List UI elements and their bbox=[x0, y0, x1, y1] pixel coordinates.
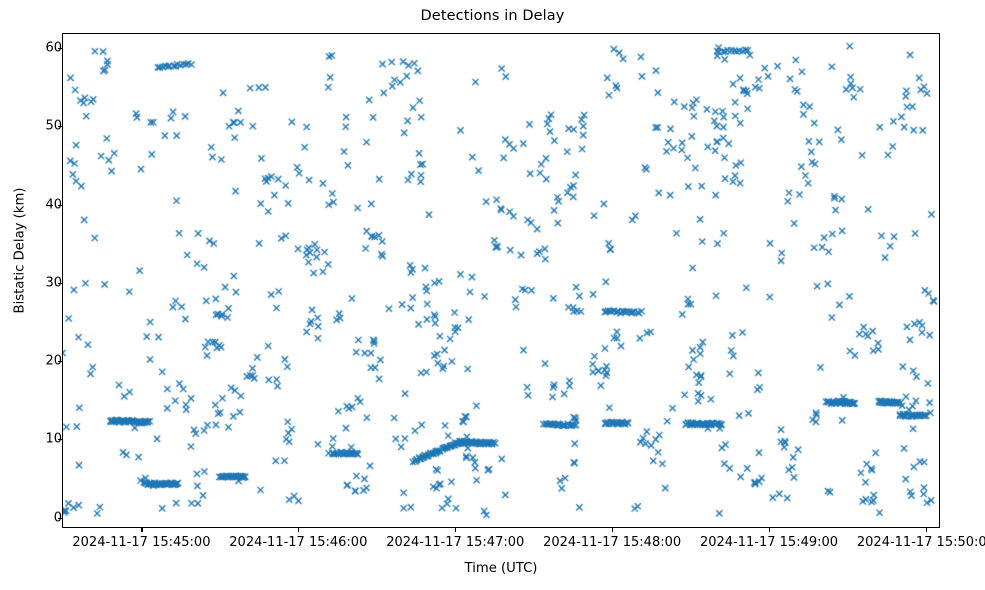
x-tick-mark bbox=[612, 528, 613, 532]
y-tick-label: 30 bbox=[18, 275, 62, 290]
x-tick-mark bbox=[141, 528, 142, 532]
x-tick-mark bbox=[769, 528, 770, 532]
x-tick-label: 2024-11-17 15:50:00 bbox=[826, 535, 985, 550]
matplotlib-figure: Detections in Delay Bistatic Delay (km) … bbox=[0, 0, 985, 590]
plot-area bbox=[62, 33, 940, 528]
y-tick-label: 20 bbox=[18, 354, 62, 369]
scatter-points-layer bbox=[63, 34, 939, 527]
y-tick-label: 50 bbox=[18, 119, 62, 134]
y-axis-tick-labels: 0102030405060 bbox=[0, 33, 62, 528]
x-tick-mark bbox=[298, 528, 299, 532]
x-tick-mark bbox=[926, 528, 927, 532]
y-tick-label: 60 bbox=[18, 41, 62, 56]
y-tick-label: 40 bbox=[18, 197, 62, 212]
x-tick-mark bbox=[455, 528, 456, 532]
x-axis-label: Time (UTC) bbox=[62, 561, 940, 576]
y-tick-label: 0 bbox=[18, 510, 62, 525]
page-title: Detections in Delay bbox=[0, 8, 985, 24]
x-axis-tick-labels: 2024-11-17 15:45:002024-11-17 15:46:0020… bbox=[62, 528, 940, 558]
y-tick-label: 10 bbox=[18, 432, 62, 447]
